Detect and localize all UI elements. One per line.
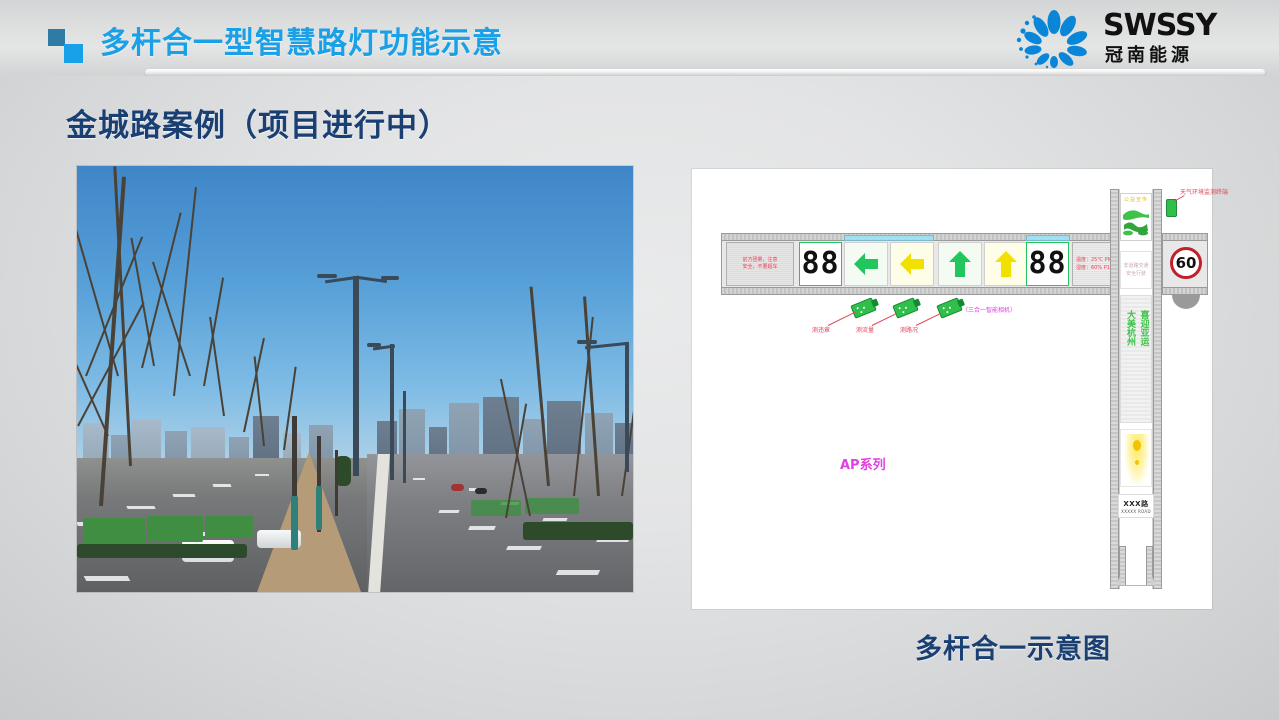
photo-car-far-2 (475, 488, 487, 494)
photo-streetlamp-pole-3 (403, 391, 406, 483)
pole-notice-line-1: 非道路交通 (1123, 262, 1148, 270)
mountain-landscape-graphic-icon (1121, 203, 1151, 237)
pole-notice-line-2: 安全行驶 (1126, 270, 1146, 278)
arrow-left-green-icon (844, 242, 888, 286)
dome-surveillance-camera-icon (1172, 295, 1200, 309)
vms-line-2: 安全，不要超车 (742, 264, 777, 272)
logo-wordmark: SWSSY (1103, 8, 1216, 43)
weather-sensor-label: 天气环境监测终端 (1180, 187, 1228, 196)
street-name-chinese: XXX路 (1123, 499, 1148, 509)
camera-label-1: 测违章 (812, 325, 830, 334)
countdown-display-right: 88 (1026, 242, 1069, 286)
countdown-left-value: 88 (801, 249, 839, 279)
street-name-plate: XXX路 XXXXX ROAD (1118, 494, 1154, 518)
ap-series-label: AP系列 (840, 454, 886, 473)
countdown-display-left: 88 (799, 242, 842, 286)
gantry-beam-top-rail (721, 233, 1171, 241)
banner-text-left: 大美杭州 (1125, 310, 1134, 422)
camera-note: （三合一智能相机） (962, 305, 1016, 314)
countdown-right-value: 88 (1028, 249, 1066, 279)
smart-pole: 公益宣传 非道路交通 安全行驶 大美杭州 喜迎亚运 (1110, 189, 1162, 589)
arrow-up-green-icon (938, 242, 982, 286)
vms-message-panel: 前方团雾，注意 安全，不要超车 (726, 242, 794, 286)
pole-notice-panel: 非道路交通 安全行驶 (1120, 251, 1152, 289)
pole-display-title: 公益宣传 (1124, 196, 1148, 203)
pole-base (1112, 534, 1160, 586)
photo-streetlamp-pole-2 (390, 344, 394, 480)
pole-side-right (1153, 189, 1162, 589)
section-heading: 金城路案例（项目进行中） (66, 100, 450, 145)
gantry-right-arm-top-rail (1162, 233, 1208, 241)
pole-lamp-panel (1120, 429, 1152, 487)
slide-header: 多杆合一型智慧路灯功能示意 (0, 0, 1279, 76)
photo-car-far-1 (451, 484, 464, 491)
photo-streetlamp-pole-4 (625, 342, 629, 472)
smart-camera-icon-3 (936, 297, 963, 319)
header-square-dark-icon (48, 29, 65, 46)
lamp-bulb-secondary-icon (1135, 460, 1139, 465)
speed-limit-sign: 60 (1170, 247, 1202, 279)
smart-camera-icon-2 (892, 297, 919, 319)
pole-led-banner: 大美杭州 喜迎亚运 (1120, 295, 1152, 423)
logo-chinese-name: 冠南能源 (1105, 41, 1193, 67)
photo-streetlamp-pole-1 (353, 276, 359, 476)
pole-side-left (1110, 189, 1119, 589)
street-name-english: XXXXX ROAD (1121, 509, 1151, 514)
camera-label-2: 测流量 (856, 325, 874, 334)
slide-root: 多杆合一型智慧路灯功能示意 (0, 0, 1279, 720)
arrow-up-yellow-icon (984, 242, 1028, 286)
vms-line-1: 前方团雾，注意 (742, 257, 777, 265)
pole-top-display: 公益宣传 (1120, 193, 1152, 241)
smart-camera-group: 测违章 测流量 测路况 （三合一智能相机） (812, 297, 1042, 345)
road-photo (77, 166, 633, 592)
gantry-beam-bottom-rail (721, 287, 1171, 295)
photo-truck-3 (205, 516, 253, 538)
photo-truck-2 (147, 516, 203, 542)
gantry-right-arm-bottom-rail (1162, 287, 1208, 295)
header-square-light-icon (64, 44, 83, 63)
water-droplet-flower-logo-icon (1011, 9, 1097, 69)
company-logo: SWSSY 冠南能源 (1011, 5, 1261, 73)
smart-camera-icon-1 (850, 297, 877, 319)
photo-truck-5 (525, 498, 579, 514)
lamp-bulb-icon (1133, 440, 1141, 451)
arrow-left-yellow-icon (890, 242, 934, 286)
camera-label-3: 测路况 (900, 325, 918, 334)
page-title: 多杆合一型智慧路灯功能示意 (100, 18, 503, 62)
pole-schematic-diagram: 前方团雾，注意 安全，不要超车 88 88 温度：25℃ P (692, 169, 1212, 609)
weather-sensor-icon (1166, 199, 1177, 217)
diagram-caption: 多杆合一示意图 (915, 627, 1111, 666)
photo-truck-4 (471, 500, 521, 516)
banner-text-right: 喜迎亚运 (1138, 310, 1147, 422)
